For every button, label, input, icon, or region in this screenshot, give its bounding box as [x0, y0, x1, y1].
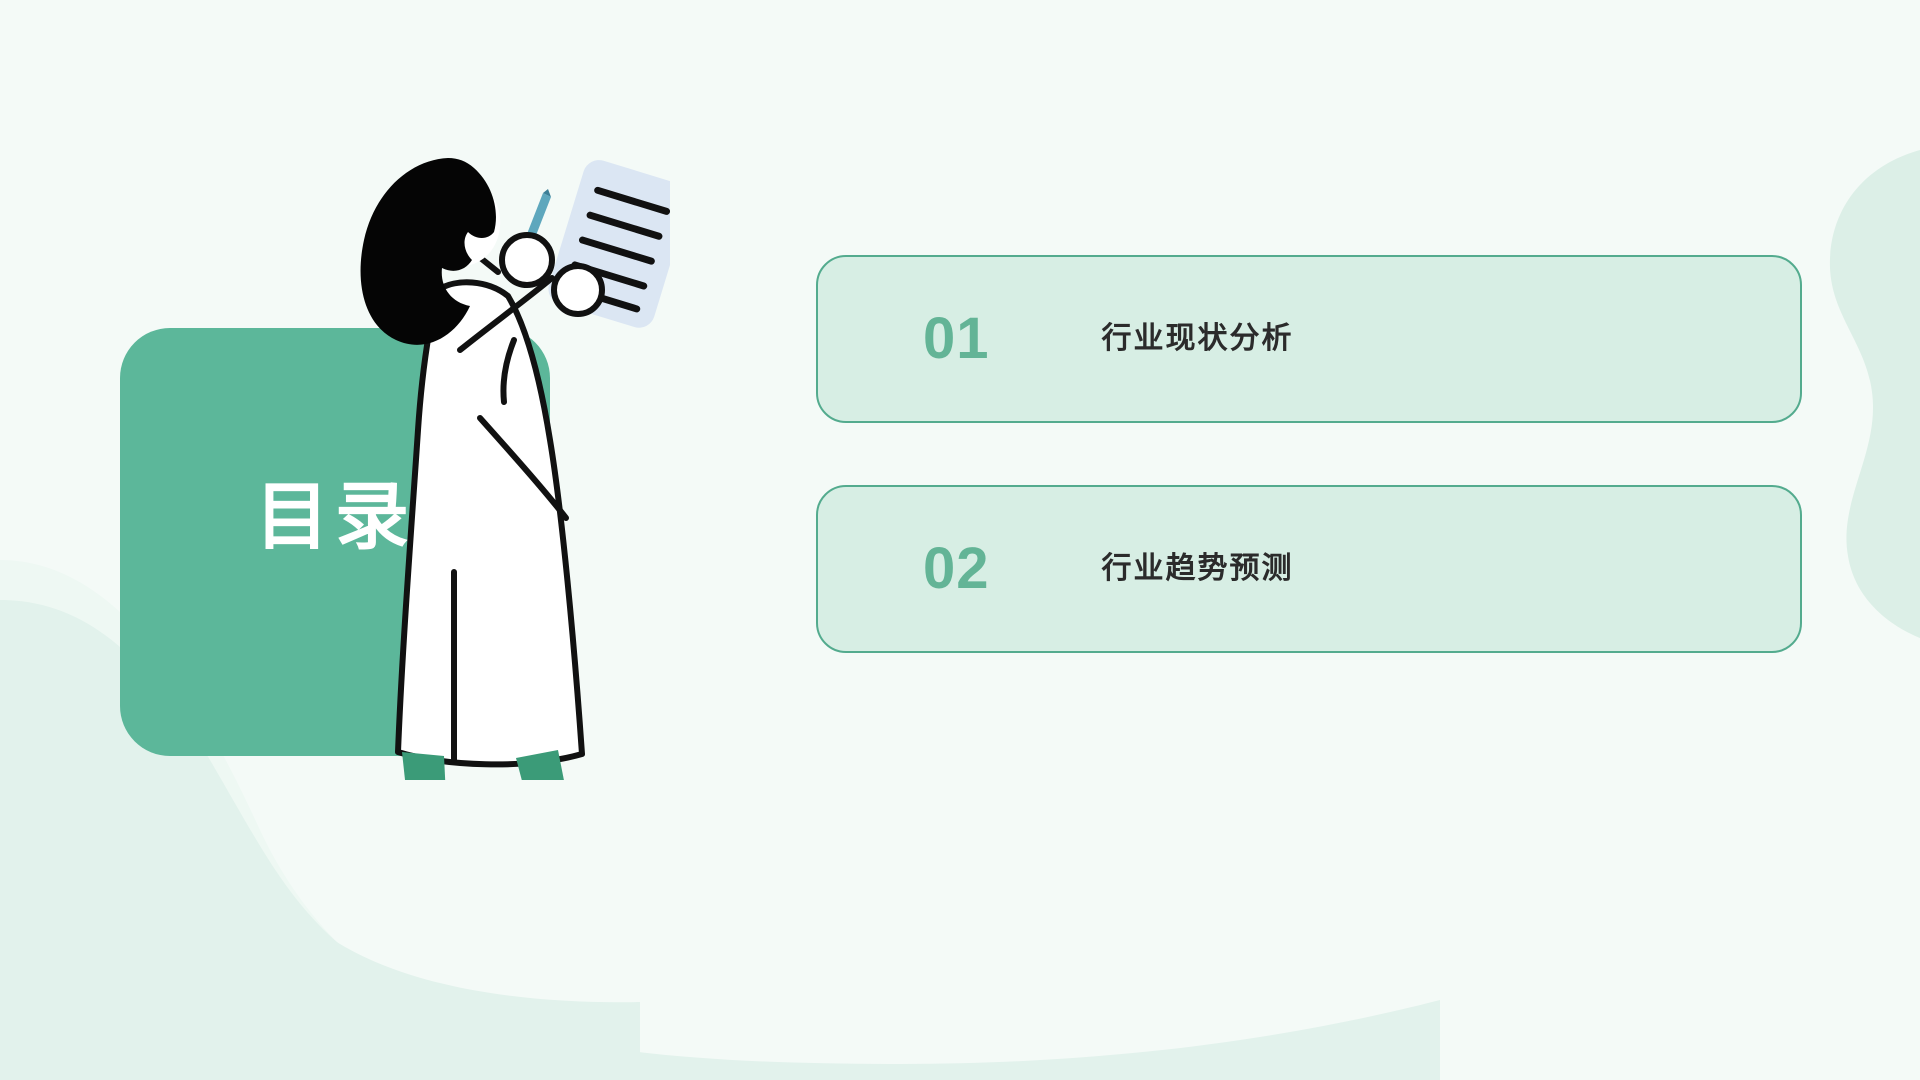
slide-canvas: 目录	[0, 0, 1920, 1080]
agenda-item-number: 02	[923, 540, 990, 598]
blob-top-right	[1830, 150, 1920, 638]
hand-upper	[502, 235, 552, 285]
agenda-item-label: 行业趋势预测	[1102, 554, 1294, 584]
agenda-item-label: 行业现状分析	[1102, 324, 1294, 354]
trouser-left	[402, 752, 450, 780]
lab-coat	[398, 282, 582, 764]
agenda-list: 01 行业现状分析 02 行业趋势预测	[816, 255, 1802, 653]
agenda-item-02[interactable]: 02 行业趋势预测	[816, 485, 1802, 653]
hand-lower	[554, 266, 602, 314]
agenda-item-01[interactable]: 01 行业现状分析	[816, 255, 1802, 423]
agenda-item-number: 01	[923, 310, 990, 368]
scientist-illustration	[330, 140, 670, 780]
